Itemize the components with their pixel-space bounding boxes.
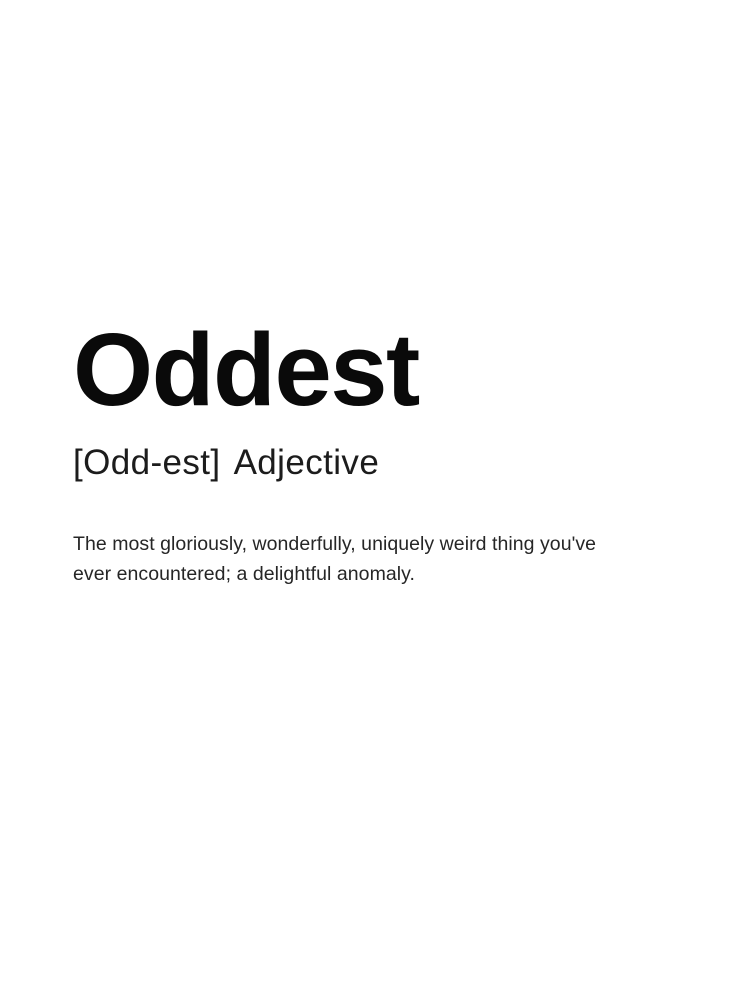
definition-block: Oddest [Odd-est]Adjective The most glori… bbox=[73, 318, 693, 589]
definition-meaning-text: The most gloriously, wonderfully, unique… bbox=[73, 529, 629, 589]
part-of-speech-label: Adjective bbox=[234, 443, 380, 482]
definition-poster: Oddest [Odd-est]Adjective The most glori… bbox=[0, 0, 748, 997]
pronunciation-row: [Odd-est]Adjective bbox=[73, 443, 693, 483]
pronunciation-text: [Odd-est] bbox=[73, 443, 221, 482]
headword-title: Oddest bbox=[73, 318, 693, 421]
